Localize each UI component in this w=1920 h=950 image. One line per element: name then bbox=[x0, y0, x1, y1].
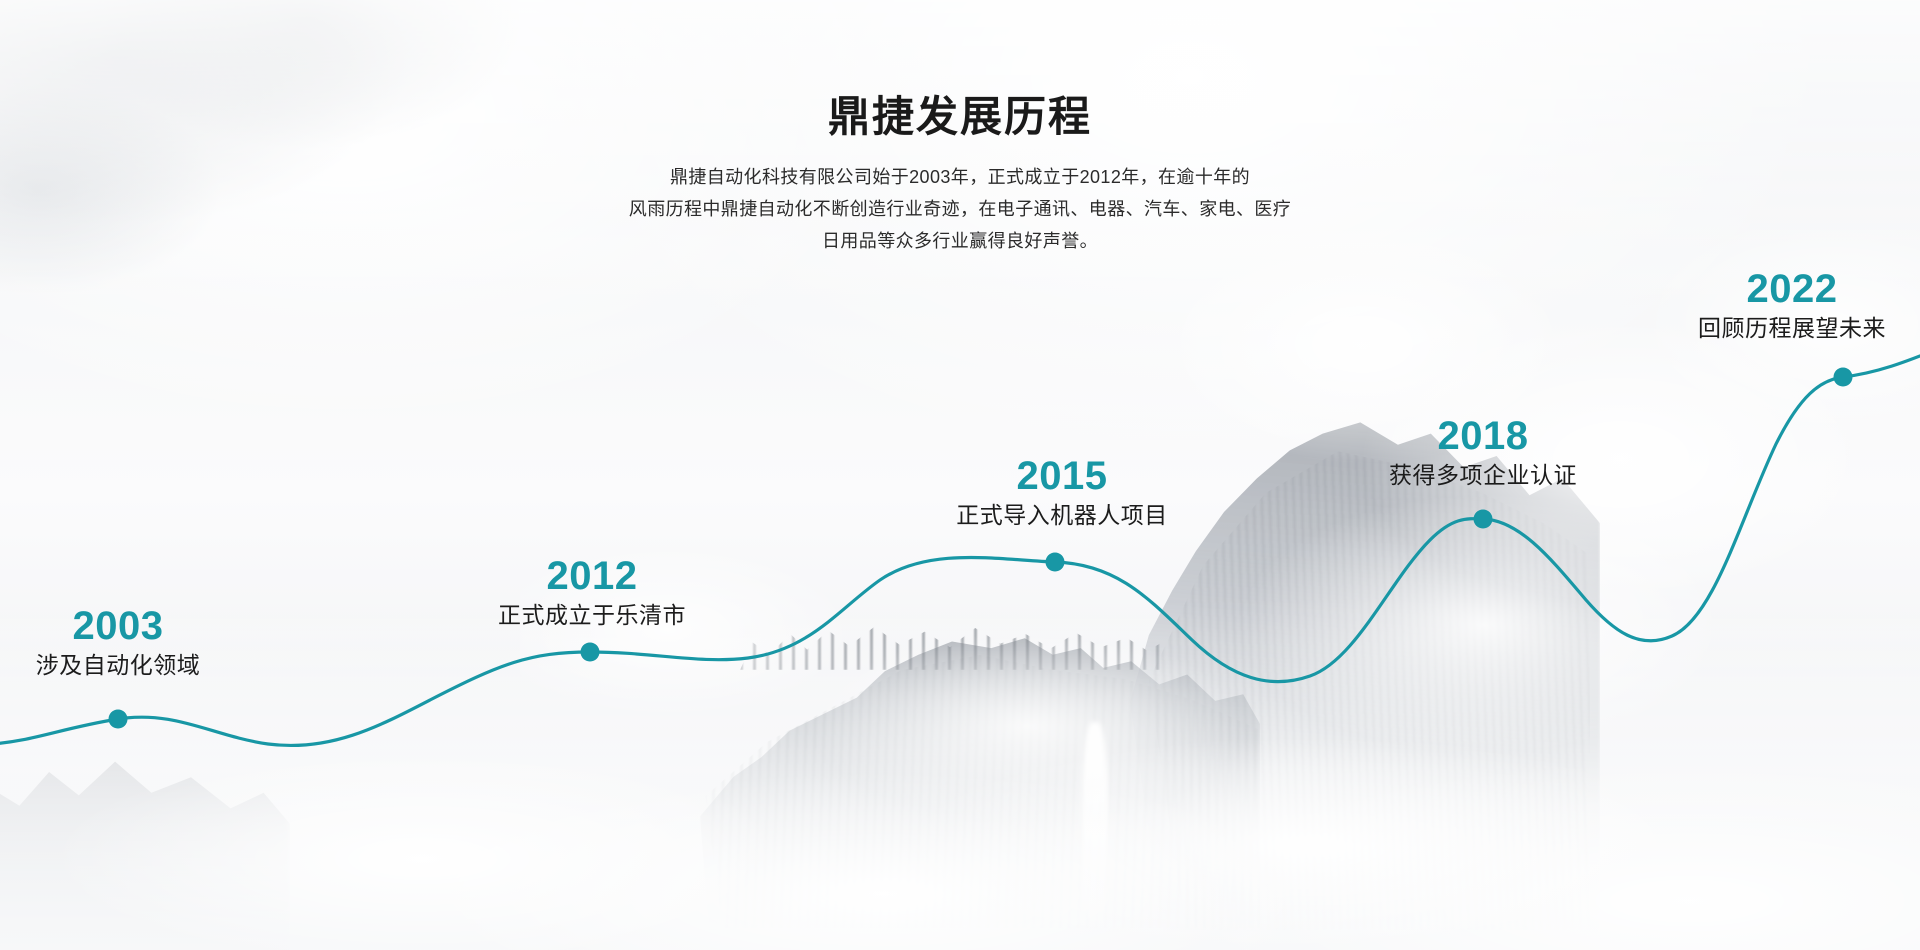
timeline-dot-2018[interactable] bbox=[1474, 510, 1493, 529]
header: 鼎捷发展历程 鼎捷自动化科技有限公司始于2003年，正式成立于2012年，在逾十… bbox=[0, 0, 1920, 257]
page-description: 鼎捷自动化科技有限公司始于2003年，正式成立于2012年，在逾十年的 风雨历程… bbox=[530, 161, 1390, 257]
milestone-year-2003: 2003 bbox=[36, 605, 201, 647]
milestone-2012[interactable]: 2012正式成立于乐清市 bbox=[498, 555, 686, 631]
timeline-page: 鼎捷发展历程 鼎捷自动化科技有限公司始于2003年，正式成立于2012年，在逾十… bbox=[0, 0, 1920, 950]
milestone-year-2015: 2015 bbox=[956, 455, 1168, 497]
timeline-dot-2012[interactable] bbox=[581, 643, 600, 662]
timeline-dot-2022[interactable] bbox=[1834, 368, 1853, 387]
timeline-dot-2015[interactable] bbox=[1046, 553, 1065, 572]
timeline-dot-group bbox=[109, 368, 1853, 729]
timeline-dot-2003[interactable] bbox=[109, 710, 128, 729]
milestone-year-2012: 2012 bbox=[498, 555, 686, 597]
milestone-2022[interactable]: 2022回顾历程展望未来 bbox=[1698, 268, 1886, 344]
page-description-line-2: 风雨历程中鼎捷自动化不断创造行业奇迹，在电子通讯、电器、汽车、家电、医疗 bbox=[530, 193, 1390, 225]
milestone-caption-2012: 正式成立于乐清市 bbox=[498, 601, 686, 631]
timeline-curve bbox=[0, 352, 1920, 746]
page-title: 鼎捷发展历程 bbox=[0, 0, 1920, 141]
milestone-2015[interactable]: 2015正式导入机器人项目 bbox=[956, 455, 1168, 531]
milestone-year-2018: 2018 bbox=[1389, 415, 1577, 457]
milestone-2003[interactable]: 2003涉及自动化领域 bbox=[36, 605, 201, 681]
milestone-caption-2003: 涉及自动化领域 bbox=[36, 651, 201, 681]
milestone-caption-2018: 获得多项企业认证 bbox=[1389, 461, 1577, 491]
page-description-line-1: 鼎捷自动化科技有限公司始于2003年，正式成立于2012年，在逾十年的 bbox=[530, 161, 1390, 193]
milestone-2018[interactable]: 2018获得多项企业认证 bbox=[1389, 415, 1577, 491]
milestone-caption-2022: 回顾历程展望未来 bbox=[1698, 314, 1886, 344]
page-description-line-3: 日用品等众多行业赢得良好声誉。 bbox=[530, 225, 1390, 257]
milestone-year-2022: 2022 bbox=[1698, 268, 1886, 310]
milestone-caption-2015: 正式导入机器人项目 bbox=[956, 501, 1168, 531]
